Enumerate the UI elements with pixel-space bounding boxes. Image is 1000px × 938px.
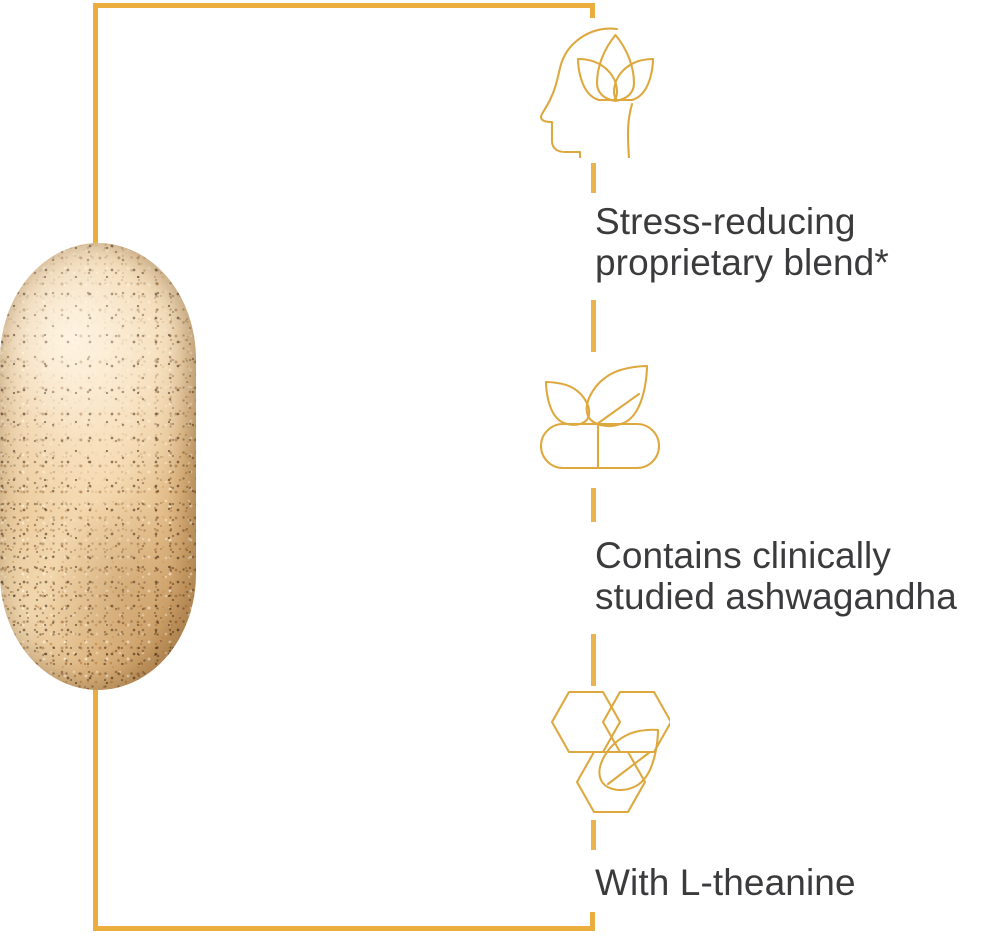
- tablet-speckle-texture: [0, 243, 196, 690]
- connector-1-to-2: [591, 300, 596, 352]
- honeycomb-leaf-icon: [532, 688, 670, 816]
- connector-2-upper: [591, 488, 596, 522]
- capsule-leaves-icon: [535, 358, 667, 470]
- feature-label-1: Stress-reducing proprietary blend*: [595, 201, 889, 284]
- connector-top: [591, 163, 596, 193]
- frame-top-end-stub: [590, 3, 595, 18]
- tablet-image: [0, 243, 196, 690]
- feature-label-2: Contains clinically studied ashwagandha: [595, 535, 957, 618]
- head-lotus-icon: [533, 26, 663, 158]
- frame-bottom-end-stub: [590, 912, 595, 931]
- connector-2-to-3: [591, 634, 596, 686]
- connector-3-upper: [591, 820, 596, 850]
- feature-label-3: With L-theanine: [595, 862, 856, 903]
- frame-bottom-line: [93, 926, 595, 931]
- product-feature-graphic: Stress-reducing proprietary blend* Conta…: [0, 0, 1000, 938]
- frame-top-line: [93, 3, 593, 8]
